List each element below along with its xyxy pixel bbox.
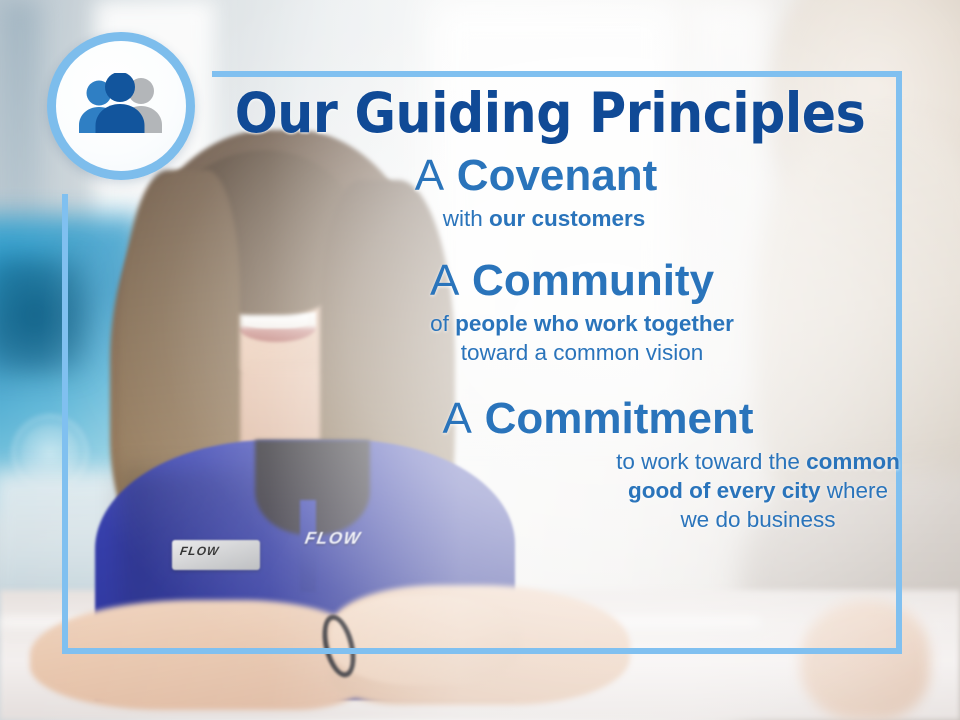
frame-border-bottom — [62, 648, 902, 654]
plain-text: where — [821, 478, 889, 503]
plain-text: of — [430, 311, 455, 336]
principles-content: Our Guiding Principles A Covenant with o… — [200, 84, 900, 538]
frame-border-top — [212, 71, 902, 77]
principle-subtext-line: good of every city where — [548, 476, 960, 505]
principle-subtext-line: of people who work together — [232, 309, 932, 338]
principle-subtext: to work toward the commongood of every c… — [548, 447, 960, 534]
principle-commitment: A Commitment to work toward the commongo… — [200, 393, 900, 534]
principle-subtext-line: we do business — [548, 505, 960, 534]
emphasis-text: good of every city — [628, 478, 821, 503]
plain-text: with — [443, 206, 489, 231]
people-group-badge — [47, 32, 195, 180]
principle-covenant: A Covenant with our customers — [200, 150, 900, 233]
plain-text: to work toward the — [616, 449, 806, 474]
emphasis-text: our customers — [489, 206, 645, 231]
principle-word: Community — [472, 256, 714, 305]
frame-border-left — [62, 194, 68, 654]
principle-subtext: with our customers — [194, 204, 894, 233]
banner-graphic: FLOW FLOW Our Guiding Principles — [0, 0, 960, 720]
principle-subtext-line: to work toward the common — [548, 447, 960, 476]
principle-article: A — [443, 394, 473, 443]
plain-text: toward a common vision — [461, 340, 704, 365]
principle-community: A Community of people who work togethert… — [200, 255, 900, 367]
principle-word: Covenant — [457, 151, 657, 200]
principle-heading: A Covenant — [186, 150, 886, 202]
page-title: Our Guiding Principles — [228, 84, 872, 142]
emphasis-text: people who work together — [455, 311, 734, 336]
principle-heading: A Community — [222, 255, 922, 307]
principle-article: A — [430, 256, 460, 305]
principle-subtext-line: toward a common vision — [232, 338, 932, 367]
people-group-icon — [73, 73, 169, 139]
plain-text: we do business — [680, 507, 835, 532]
principle-heading: A Commitment — [248, 393, 948, 445]
principle-subtext: of people who work togethertoward a comm… — [232, 309, 932, 367]
principle-subtext-line: with our customers — [194, 204, 894, 233]
emphasis-text: common — [806, 449, 900, 474]
principle-article: A — [415, 151, 445, 200]
principle-word: Commitment — [485, 394, 754, 443]
